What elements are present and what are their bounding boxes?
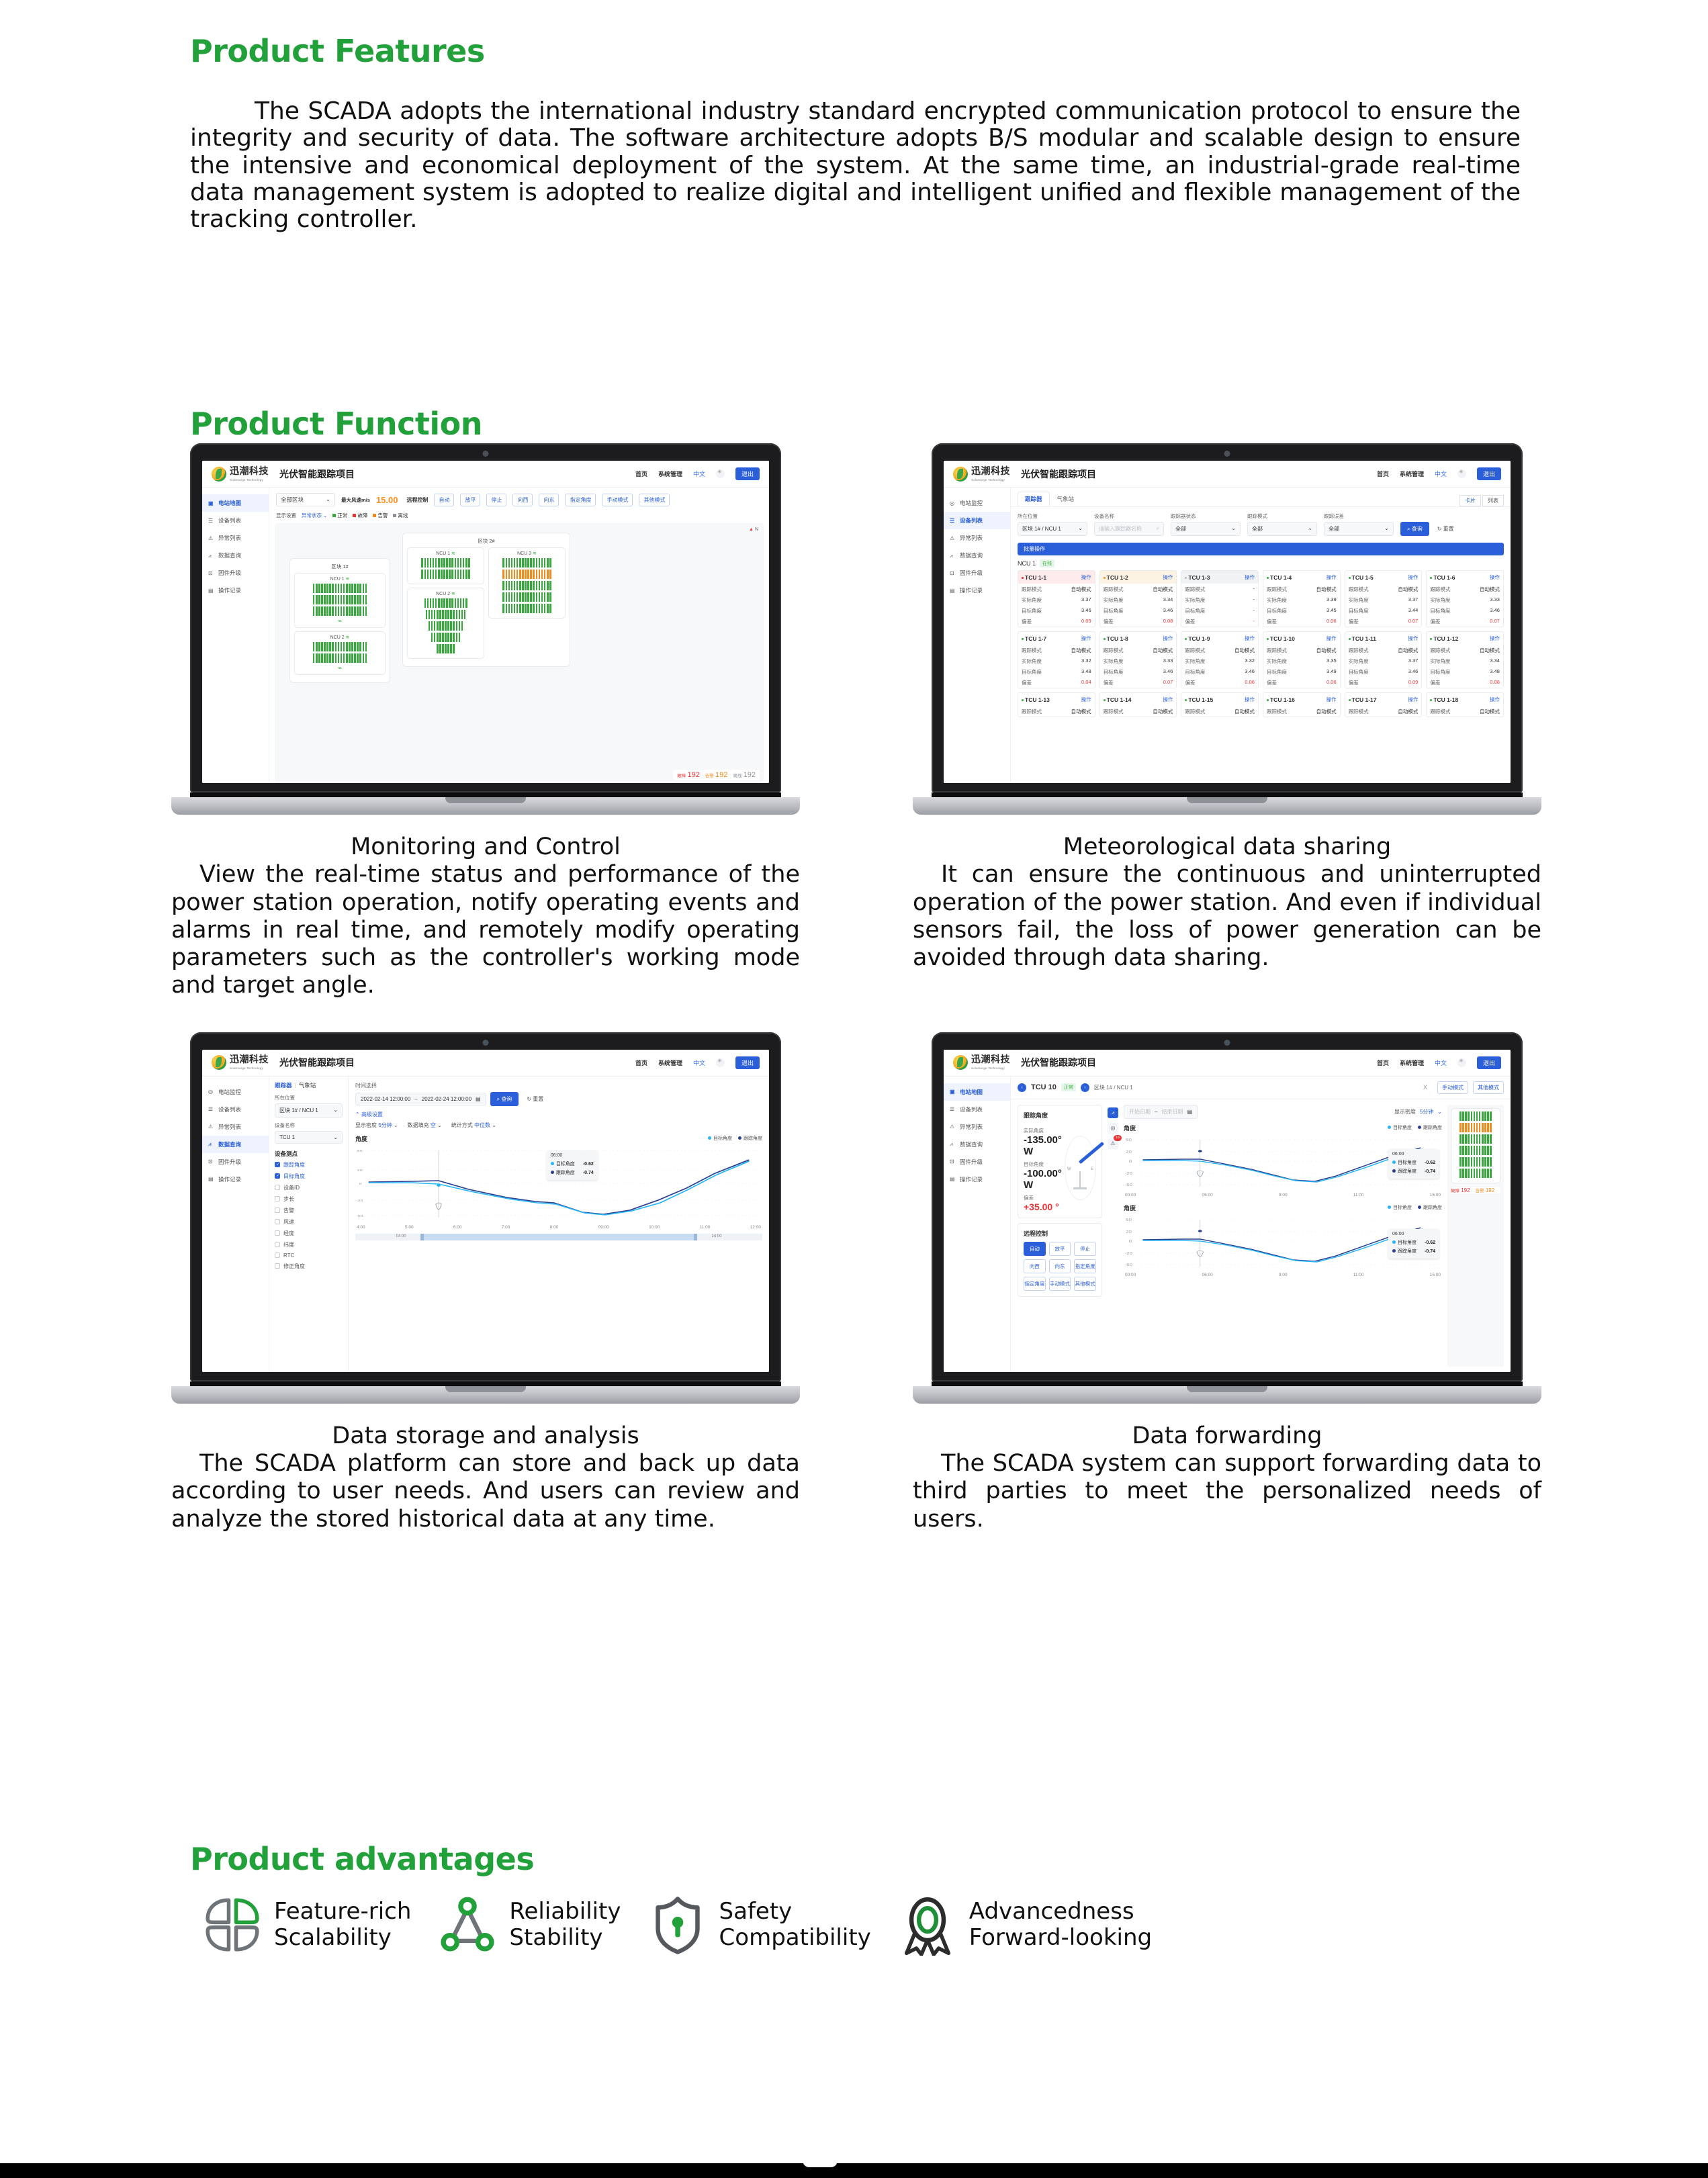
scroll-end-label: 14:00: [711, 1234, 721, 1238]
tcu-card[interactable]: TCU 1-18操作跟踪模式自动模式: [1426, 692, 1504, 717]
chevron-down-icon: ⌄: [326, 496, 330, 504]
max-wind-label: 最大风速m/s: [341, 496, 370, 504]
advanced-settings-label: 高级设置: [361, 1111, 383, 1118]
checkbox-icon: [275, 1196, 280, 1201]
advantage-line1: Feature-rich: [274, 1898, 411, 1925]
measurement-point-checkbox[interactable]: 步长: [275, 1195, 343, 1203]
project-title: 光伏智能跟踪项目: [279, 1056, 355, 1069]
caption-body: It can ensure the continuous and uninter…: [913, 861, 1541, 972]
measurement-point-checkbox[interactable]: 修正角度: [275, 1263, 343, 1270]
view-toggle-list[interactable]: 列表: [1482, 495, 1504, 506]
laptop-hinge: [932, 1381, 1523, 1386]
sidebar-item-data-query[interactable]: ⩘数据查询: [202, 547, 269, 564]
tcu-card[interactable]: TCU 1-13操作跟踪模式自动模式: [1018, 692, 1095, 717]
sidebar-label: 数据查询: [960, 1140, 983, 1148]
top-button-manual[interactable]: 手动模式: [1437, 1081, 1468, 1094]
block-title: 区块 1#: [294, 563, 386, 570]
theme-toggle-icon[interactable]: [716, 1058, 725, 1067]
tooltip-row: 跟踪角度-0.74: [1392, 1247, 1435, 1256]
ncu-label: NCU 1: [330, 577, 345, 582]
advanced-settings-toggle[interactable]: ⌃ 高级设置: [355, 1111, 762, 1118]
device-name-placeholder: 请输入跟踪器名称: [1099, 525, 1142, 533]
remote-button-set-angle[interactable]: 指定角度: [1074, 1259, 1096, 1273]
query-left-panel: 跟踪器|气象站 所在位置 区块 1# / NCU 1⌄ 设备名称 TCU 1⌄ …: [269, 1077, 349, 1372]
tcu-field-actual: 实际角度3.33: [1427, 594, 1503, 605]
search-button[interactable]: ⌕ 查询: [490, 1092, 519, 1106]
tcu-card[interactable]: TCU 1-4操作跟踪模式自动模式实际角度3.39目标角度3.45偏差0.06: [1263, 570, 1341, 627]
measurement-point-label: 修正角度: [283, 1263, 305, 1270]
advantage-feature-rich: Feature-rich Scalability: [201, 1894, 411, 1956]
advanced-settings-row: 显示密度 5分钟 ⌄ 数据填充 空 ⌄ 统计方式 中位数 ⌄: [355, 1122, 762, 1129]
advantage-line2: Scalability: [274, 1925, 411, 1951]
nav-system-management[interactable]: 系统管理: [658, 1058, 682, 1067]
map-block-1[interactable]: 区块 1# NCU 1 ≋ ⌁: [289, 558, 390, 683]
chart-time-scrollbar[interactable]: 04:00 14:00: [355, 1234, 762, 1240]
nav-system-management[interactable]: 系统管理: [658, 469, 682, 478]
page-title-function: Product Function: [190, 406, 482, 442]
date-start-value: 2022-02-14 12:00:00: [361, 1096, 410, 1102]
panel-row: [492, 592, 561, 602]
tcu-card-grid: TCU 1-1操作跟踪模式自动模式实际角度3.37目标角度3.46偏差0.09T…: [1011, 570, 1511, 723]
location-icon[interactable]: ◎: [1108, 1123, 1118, 1134]
sidebar-item-abnormal-list[interactable]: ⚠异常列表: [202, 1118, 269, 1136]
tcu-operate-link[interactable]: 操作: [1327, 696, 1337, 703]
x-tick: 10:00: [649, 1225, 660, 1230]
date-range-input[interactable]: 2022-02-14 12:00:00 – 2022-02-24 12:00:0…: [355, 1093, 486, 1105]
tcu-operate-link[interactable]: 操作: [1245, 574, 1255, 581]
station-map[interactable]: ▲ N 区块 1# NCU 1 ≋: [275, 523, 764, 783]
laptop-base: [171, 797, 800, 815]
tcu-name: TCU 1-17: [1349, 696, 1377, 703]
tcu-operate-link[interactable]: 操作: [1490, 574, 1500, 581]
map-block-2[interactable]: 区块 2# NCU 1 ≋: [402, 533, 570, 667]
nav-home[interactable]: 首页: [635, 469, 647, 478]
remote-button-other[interactable]: 其他模式: [639, 494, 670, 506]
tcu-card[interactable]: TCU 1-9操作跟踪模式自动模式实际角度3.32目标角度3.46偏差0.06: [1181, 631, 1259, 688]
sidebar-item-device-list[interactable]: ☰设备列表: [202, 1101, 269, 1118]
view-toggle-card[interactable]: 卡片: [1459, 495, 1481, 506]
tcu-card[interactable]: TCU 1-3操作跟踪模式-实际角度-目标角度-偏差-: [1181, 570, 1259, 627]
theme-toggle-icon[interactable]: [1457, 469, 1466, 478]
remote-button-manual[interactable]: 手动模式: [1049, 1277, 1071, 1291]
top-button-other[interactable]: 其他模式: [1473, 1081, 1504, 1094]
language-selector[interactable]: 中文: [1435, 469, 1447, 478]
sidebar-item-station-map[interactable]: ▣电站地图: [944, 1083, 1010, 1101]
remote-button-east[interactable]: 向东: [1049, 1259, 1071, 1273]
x-tick: 9:00: [1279, 1193, 1288, 1197]
remote-button-west[interactable]: 向西: [512, 494, 533, 506]
query-tabs: 跟踪器|气象站: [275, 1081, 343, 1089]
alert-icon: ⚠: [208, 535, 214, 541]
tcu-operate-link[interactable]: 操作: [1163, 635, 1173, 642]
nav-home[interactable]: 首页: [1377, 469, 1389, 478]
bulk-operation-button[interactable]: 批量操作: [1018, 543, 1504, 555]
tcu-field-deviation: 偏差0.06: [1263, 677, 1340, 688]
tcu-card[interactable]: TCU 1-12操作跟踪模式自动模式实际角度3.34目标角度3.48偏差0.08: [1426, 631, 1504, 688]
language-selector[interactable]: 中文: [693, 469, 705, 478]
remote-button-stop[interactable]: 停止: [1074, 1242, 1096, 1256]
svg-text:20: 20: [1126, 1230, 1132, 1234]
tcu-name: TCU 1-4: [1267, 574, 1292, 581]
sidebar: ▣电站地图 ☰设备列表 ⚠异常列表 ⩘数据查询 ⊡固件升级 ▤操作记录: [202, 488, 269, 783]
checkbox-icon: [275, 1219, 280, 1224]
tracker-status-select[interactable]: 全部⌄: [1171, 522, 1241, 536]
filter-tracker-status: 跟踪器状态 全部⌄: [1171, 512, 1241, 536]
sidebar-item-firmware-upgrade[interactable]: ⊡固件升级: [944, 1153, 1010, 1171]
sidebar-item-station-map[interactable]: ▣电站地图: [202, 494, 269, 512]
tcu-operate-link[interactable]: 操作: [1408, 696, 1418, 703]
search-button-label: 查询: [501, 1096, 512, 1102]
remote-button-stop[interactable]: 停止: [486, 494, 506, 506]
advantage-line2: Compatibility: [719, 1925, 871, 1951]
tab-weather-station[interactable]: 气象站: [299, 1082, 316, 1089]
status-fault: 故障 192: [1451, 1187, 1470, 1193]
tcu-operate-link[interactable]: 操作: [1327, 574, 1337, 581]
location-select[interactable]: 区块 1# / NCU 1⌄: [1018, 522, 1087, 536]
remote-button-other[interactable]: 其他模式: [1074, 1277, 1096, 1291]
tcu-name: TCU 1-9: [1185, 635, 1210, 642]
fill-value[interactable]: 空: [431, 1122, 436, 1128]
chart-icon[interactable]: ⩘: [1108, 1107, 1118, 1118]
fill-field: 数据填充 空 ⌄: [408, 1122, 442, 1129]
alert-icon[interactable]: ⚠16: [1108, 1138, 1118, 1149]
advantage-label: Reliability Stability: [509, 1899, 621, 1951]
sidebar-item-abnormal-list[interactable]: ⚠异常列表: [944, 529, 1010, 547]
density-value[interactable]: 5分钟: [378, 1122, 392, 1128]
tcu-operate-link[interactable]: 操作: [1490, 696, 1500, 703]
laptop-mockup-devices: 迅潮科技 Solarsurge Technology 光伏智能跟踪项目 首页 系…: [913, 443, 1541, 815]
remote-button-set-angle[interactable]: 指定角度: [565, 494, 596, 506]
tcu-card[interactable]: TCU 1-5操作跟踪模式自动模式实际角度3.37目标角度3.44偏差0.07: [1345, 570, 1423, 627]
tcu-name: TCU 1-1: [1022, 574, 1046, 581]
panel-row: [411, 644, 480, 653]
advantage-line1: Advancedness: [969, 1898, 1134, 1925]
prev-device-button[interactable]: ‹: [1018, 1083, 1026, 1092]
brand-name-cn: 迅潮科技: [971, 465, 1010, 476]
card-row-2: 迅潮科技 Solarsurge Technology 光伏智能跟踪项目 首页 系…: [171, 1032, 1541, 1533]
tcu-name: TCU 1-11: [1349, 635, 1376, 642]
chart-icon: ⩘: [208, 553, 214, 559]
tcu-card[interactable]: TCU 1-14操作跟踪模式自动模式: [1099, 692, 1177, 717]
x-tick: 00:00: [1125, 1273, 1136, 1277]
checkbox-icon: [275, 1173, 280, 1179]
remote-button-east[interactable]: 向东: [539, 494, 559, 506]
tcu-field-target: 目标角度-: [1181, 605, 1258, 616]
tracking-mode-select[interactable]: 全部⌄: [1247, 522, 1317, 536]
upgrade-icon: ⊡: [950, 570, 956, 576]
measurement-point-checkbox[interactable]: 设备ID: [275, 1184, 343, 1191]
chart-tooltip: 06:00 目标角度-0.62 跟踪角度-0.74: [547, 1150, 598, 1180]
language-selector[interactable]: 中文: [693, 1058, 705, 1067]
tcu-card-header: TCU 1-18操作: [1427, 693, 1503, 706]
legend-target-angle: 目标角度: [708, 1135, 732, 1142]
tooltip-row: 目标角度-0.62: [1392, 1238, 1435, 1247]
logout-button[interactable]: 退出: [1477, 467, 1501, 480]
nav-system-management[interactable]: 系统管理: [1400, 469, 1424, 478]
wifi-icon: ≋: [346, 577, 350, 582]
laptop-hinge: [190, 792, 781, 797]
svg-text:-50: -50: [1125, 1263, 1133, 1267]
legend-offline: 离线: [393, 512, 408, 519]
sidebar-item-data-query[interactable]: ⩘数据查询: [944, 1136, 1010, 1153]
date-range-input[interactable]: 开始日期 – 结束日期 ▤: [1124, 1105, 1198, 1119]
sidebar-label: 设备列表: [218, 1105, 241, 1114]
measurement-point-checkbox[interactable]: 告警: [275, 1207, 343, 1214]
sidebar-label: 固件升级: [960, 1158, 983, 1166]
webcam-icon: [483, 1040, 489, 1046]
sidebar-item-firmware-upgrade[interactable]: ⊡固件升级: [944, 564, 1010, 582]
area-select[interactable]: 全部区块⌄: [276, 493, 335, 506]
sidebar-label: 操作记录: [218, 1175, 241, 1183]
tcu-card-header: TCU 1-15操作: [1181, 693, 1258, 706]
sidebar-label: 设备列表: [218, 516, 241, 525]
sidebar-item-firmware-upgrade[interactable]: ⊡固件升级: [202, 564, 269, 582]
theme-toggle-icon[interactable]: [1457, 1058, 1466, 1067]
tcu-field-mode: 跟踪模式-: [1181, 584, 1258, 594]
x-tick: 09:00: [598, 1225, 609, 1230]
sidebar-label: 设备列表: [960, 1105, 983, 1114]
sidebar-item-operation-log[interactable]: ▤操作记录: [944, 1171, 1010, 1188]
x-tick: 11:00: [1353, 1273, 1364, 1277]
tcu-card[interactable]: TCU 1-8操作跟踪模式自动模式实际角度3.33目标角度3.46偏差0.07: [1099, 631, 1177, 688]
tab-tracker[interactable]: 跟踪器: [275, 1082, 292, 1089]
tcu-field-mode: 跟踪模式自动模式: [1018, 584, 1095, 594]
remote-button-auto[interactable]: 自动: [1024, 1242, 1046, 1256]
logout-button[interactable]: 退出: [1477, 1056, 1501, 1069]
device-select[interactable]: TCU 1⌄: [275, 1131, 343, 1144]
tab-tracker[interactable]: 跟踪器: [1018, 492, 1050, 506]
reset-button[interactable]: ↻ 重置: [523, 1092, 547, 1106]
tcu-operate-link[interactable]: 操作: [1081, 635, 1091, 642]
measurement-point-label: 经度: [283, 1230, 294, 1237]
nav-system-management[interactable]: 系统管理: [1400, 1058, 1424, 1067]
calendar-icon: ▤: [476, 1096, 481, 1102]
actual-angle-value: -135.00° W: [1024, 1134, 1062, 1157]
x-tick: 9:00: [1279, 1273, 1288, 1277]
ncu-card[interactable]: [1451, 1108, 1500, 1183]
filter-label: 所在位置: [1018, 512, 1087, 520]
ncu-card[interactable]: NCU 2 ≋: [407, 588, 484, 659]
logout-button[interactable]: 退出: [735, 1056, 760, 1069]
device-name-input[interactable]: 请输入跟踪器名称⌕: [1094, 522, 1164, 536]
caption-title: Data forwarding: [913, 1422, 1541, 1450]
tcu-name: TCU 1-5: [1349, 574, 1374, 581]
reset-button[interactable]: ↻ 重置: [1433, 522, 1458, 536]
tcu-card[interactable]: TCU 1-10操作跟踪模式自动模式实际角度3.35目标角度3.49偏差0.06: [1263, 631, 1341, 688]
tracking-error-select[interactable]: 全部⌄: [1324, 522, 1394, 536]
nav-home[interactable]: 首页: [635, 1058, 647, 1067]
tcu-operate-link[interactable]: 操作: [1245, 635, 1255, 642]
measurement-point-checkbox[interactable]: 目标角度: [275, 1173, 343, 1180]
page-root: Product Features The SCADA adopts the in…: [0, 0, 1708, 2178]
measurement-point-label: 设备ID: [283, 1184, 300, 1191]
checkbox-icon: [275, 1230, 280, 1236]
screen-device-detail: 迅潮科技 Solarsurge Technology 光伏智能跟踪项目 首页 系…: [944, 1050, 1511, 1372]
tcu-card[interactable]: TCU 1-7操作跟踪模式自动模式实际角度3.32目标角度3.48偏差0.04: [1018, 631, 1095, 688]
deviation-value: +35.00 °: [1024, 1201, 1062, 1212]
tcu-card-header: TCU 1-10操作: [1263, 632, 1340, 645]
tcu-field-deviation: 偏差0.08: [1427, 677, 1503, 688]
stat-value[interactable]: 中位数: [474, 1122, 490, 1128]
ncu-card[interactable]: NCU 2 ≋ ⌁: [294, 631, 386, 675]
filter-device-name: 设备名称 请输入跟踪器名称⌕: [1094, 512, 1164, 536]
status-offline: 离线 192: [733, 771, 756, 779]
measurement-point-checkbox[interactable]: 跟踪角度: [275, 1161, 343, 1169]
chart-header: 角度 目标角度 跟踪角度: [355, 1134, 762, 1143]
tcu-name: TCU 1-2: [1104, 574, 1128, 581]
chart-x-axis-2: 00:00 06:00 9:00 11:00 15:00: [1124, 1272, 1442, 1277]
sidebar-item-operation-log[interactable]: ▤操作记录: [202, 1171, 269, 1188]
tcu-operate-link[interactable]: 操作: [1163, 696, 1173, 703]
date-end-value: 2022-02-24 12:00:00: [422, 1096, 471, 1102]
sidebar-item-device-list[interactable]: ☰设备列表: [202, 512, 269, 529]
legend-target-angle: 目标角度: [1388, 1124, 1412, 1131]
time-select-label: 时间选择: [355, 1082, 762, 1089]
chevron-down-icon: ⌄: [323, 512, 327, 518]
tcu-operate-link[interactable]: 操作: [1408, 574, 1418, 581]
abnormal-status-filter[interactable]: 异常状态 ⌄: [302, 512, 327, 519]
sidebar-label: 固件升级: [960, 569, 983, 577]
tcu-card[interactable]: TCU 1-6操作跟踪模式自动模式实际角度3.33目标角度3.46偏差0.07: [1426, 570, 1504, 627]
tcu-card[interactable]: TCU 1-15操作跟踪模式自动模式: [1181, 692, 1259, 717]
svg-text:50: 50: [1126, 1138, 1132, 1142]
filter-label: 跟踪误差: [1324, 512, 1394, 520]
detail-date-row: 开始日期 – 结束日期 ▤ 显示密度 5分钟: [1124, 1105, 1442, 1119]
leaf-logo-icon: [953, 467, 968, 482]
tcu-operate-link[interactable]: 操作: [1081, 574, 1091, 581]
sidebar-item-device-list[interactable]: ☰设备列表: [944, 1101, 1010, 1118]
tcu-operate-link[interactable]: 操作: [1081, 696, 1091, 703]
device-label: 设备名称: [275, 1122, 343, 1129]
date-start-placeholder: 开始日期: [1129, 1108, 1151, 1116]
filter-tracking-mode: 跟踪模式 全部⌄: [1247, 512, 1317, 536]
tcu-field-target: 目标角度3.46: [1100, 605, 1177, 616]
measurement-point-checkbox[interactable]: 经度: [275, 1230, 343, 1237]
density-label: 显示密度: [1394, 1108, 1416, 1116]
tcu-name: TCU 1-16: [1267, 696, 1295, 703]
measurement-point-checkbox[interactable]: RTC: [275, 1253, 343, 1259]
feature-card-meteorological: 迅潮科技 Solarsurge Technology 光伏智能跟踪项目 首页 系…: [913, 443, 1541, 1000]
location-select[interactable]: 区块 1# / NCU 1⌄: [275, 1103, 343, 1118]
tcu-field-mode: 跟踪模式自动模式: [1345, 584, 1422, 594]
leaf-logo-icon: [212, 1055, 226, 1070]
tcu-operate-link[interactable]: 操作: [1245, 696, 1255, 703]
sidebar-item-station-monitor[interactable]: ◎电站监控: [202, 1083, 269, 1101]
brand-name-cn: 迅潮科技: [230, 465, 269, 476]
search-button-label: 查询: [1412, 526, 1423, 532]
four-petal-icon: [201, 1894, 263, 1956]
sidebar-label: 异常列表: [960, 1123, 983, 1131]
brand-logo: 迅潮科技 Solarsurge Technology: [953, 1054, 1010, 1071]
angle-line-chart-2[interactable]: 50 20 0 -20 -50: [1124, 1214, 1442, 1272]
close-icon[interactable]: X: [1423, 1084, 1427, 1091]
detail-side-icon-strip: ⩘ ◎ ⚠16: [1108, 1105, 1118, 1367]
tab-weather-station[interactable]: 气象站: [1050, 492, 1082, 506]
chevron-down-icon: ⌄: [333, 1134, 338, 1140]
remote-button-flat[interactable]: 放平: [1049, 1242, 1071, 1256]
logout-button[interactable]: 退出: [735, 467, 760, 480]
density-value[interactable]: 5分钟: [1420, 1108, 1433, 1116]
tcu-card[interactable]: TCU 1-16操作跟踪模式自动模式: [1263, 692, 1341, 717]
tcu-operate-link[interactable]: 操作: [1327, 635, 1337, 642]
sidebar-item-abnormal-list[interactable]: ⚠异常列表: [202, 529, 269, 547]
ncu-card[interactable]: NCU 1 ≋ ⌁: [294, 573, 386, 628]
page-title-advantages: Product advantages: [190, 1841, 534, 1877]
tcu-operate-link[interactable]: 操作: [1163, 574, 1173, 581]
svg-text:-20: -20: [356, 1199, 363, 1203]
sidebar-item-device-list[interactable]: ☰设备列表: [944, 512, 1010, 529]
sidebar-label: 异常列表: [218, 1123, 241, 1131]
tcu-field-target: 目标角度3.48: [1018, 666, 1095, 677]
location-label: 所在位置: [275, 1094, 343, 1101]
alert-icon: ⚠: [950, 1124, 956, 1130]
screen-device-list: 迅潮科技 Solarsurge Technology 光伏智能跟踪项目 首页 系…: [944, 461, 1511, 783]
sidebar-item-operation-log[interactable]: ▤操作记录: [944, 582, 1010, 599]
device-filters: 所在位置 区块 1# / NCU 1⌄ 设备名称 请输入跟踪器名称⌕: [1011, 507, 1511, 539]
language-selector[interactable]: 中文: [1435, 1058, 1447, 1067]
nav-home[interactable]: 首页: [1377, 1058, 1389, 1067]
tcu-card[interactable]: TCU 1-11操作跟踪模式自动模式实际角度3.37目标角度3.46偏差0.09: [1345, 631, 1423, 688]
mini-station-map[interactable]: 故障 192 告警 192: [1447, 1105, 1504, 1367]
angle-line-chart-1[interactable]: 50 20 0 -20 -50: [1124, 1134, 1442, 1192]
brand-name-cn: 迅潮科技: [230, 1054, 269, 1064]
theme-toggle-icon[interactable]: [716, 469, 725, 478]
tcu-card[interactable]: TCU 1-17操作跟踪模式自动模式: [1345, 692, 1423, 717]
ncu-card[interactable]: NCU 3 ≋: [488, 547, 566, 619]
brand-name-en: Solarsurge Technology: [971, 1067, 1005, 1070]
calendar-icon: ▤: [1187, 1109, 1192, 1115]
sidebar-item-operation-log[interactable]: ▤操作记录: [202, 582, 269, 599]
advantage-label: Safety Compatibility: [719, 1899, 871, 1951]
chart-tooltip: 06:00 目标角度-0.62 跟踪角度-0.74: [1388, 1229, 1439, 1259]
ncu-card[interactable]: NCU 1 ≋: [407, 547, 484, 584]
next-device-button[interactable]: ›: [1081, 1083, 1089, 1092]
search-button[interactable]: ⌕ 查询: [1400, 522, 1429, 536]
list-icon: ☰: [208, 1106, 214, 1112]
measurement-point-checkbox[interactable]: 纬度: [275, 1241, 343, 1249]
tcu-card[interactable]: TCU 1-1操作跟踪模式自动模式实际角度3.37目标角度3.46偏差0.09: [1018, 570, 1095, 627]
tcu-operate-link[interactable]: 操作: [1490, 635, 1500, 642]
display-settings-label[interactable]: 显示设置: [276, 512, 296, 519]
checkbox-icon: [275, 1242, 280, 1247]
caption-title: Data storage and analysis: [171, 1422, 800, 1450]
remote-button-set-angle-2[interactable]: 指定角度: [1024, 1277, 1046, 1291]
sidebar-item-station-monitor[interactable]: ◎电站监控: [944, 494, 1010, 512]
sidebar-item-abnormal-list[interactable]: ⚠异常列表: [944, 1118, 1010, 1136]
laptop-lid: 迅潮科技 Solarsurge Technology 光伏智能跟踪项目 首页 系…: [190, 443, 781, 792]
remote-button-manual[interactable]: 手动模式: [602, 494, 633, 506]
remote-button-west[interactable]: 向西: [1024, 1259, 1046, 1273]
sidebar-item-data-query[interactable]: ⩘数据查询: [202, 1136, 269, 1153]
tcu-field-target: 目标角度3.48: [1427, 666, 1503, 677]
sidebar-item-firmware-upgrade[interactable]: ⊡固件升级: [202, 1153, 269, 1171]
tcu-operate-link[interactable]: 操作: [1408, 635, 1418, 642]
tcu-card[interactable]: TCU 1-2操作跟踪模式自动模式实际角度3.34目标角度3.46偏差0.08: [1099, 570, 1177, 627]
caption-title: Meteorological data sharing: [913, 833, 1541, 861]
remote-button-flat[interactable]: 放平: [460, 494, 480, 506]
sidebar-item-data-query[interactable]: ⩘数据查询: [944, 547, 1010, 564]
tooltip-time: 06:00: [1392, 1232, 1435, 1236]
tcu-field-mode: 跟踪模式自动模式: [1181, 706, 1258, 717]
measurement-point-checkbox[interactable]: 风速: [275, 1218, 343, 1226]
tcu-card-header: TCU 1-1操作: [1018, 571, 1095, 584]
remote-button-auto[interactable]: 自动: [434, 494, 454, 506]
advantage-line2: Forward-looking: [969, 1925, 1152, 1951]
tcu-card-header: TCU 1-7操作: [1018, 632, 1095, 645]
tcu-name: TCU 1-13: [1022, 696, 1050, 703]
tcu-name: TCU 1-18: [1430, 696, 1458, 703]
angle-line-chart[interactable]: 50 20 0 -20 -50: [355, 1145, 762, 1224]
